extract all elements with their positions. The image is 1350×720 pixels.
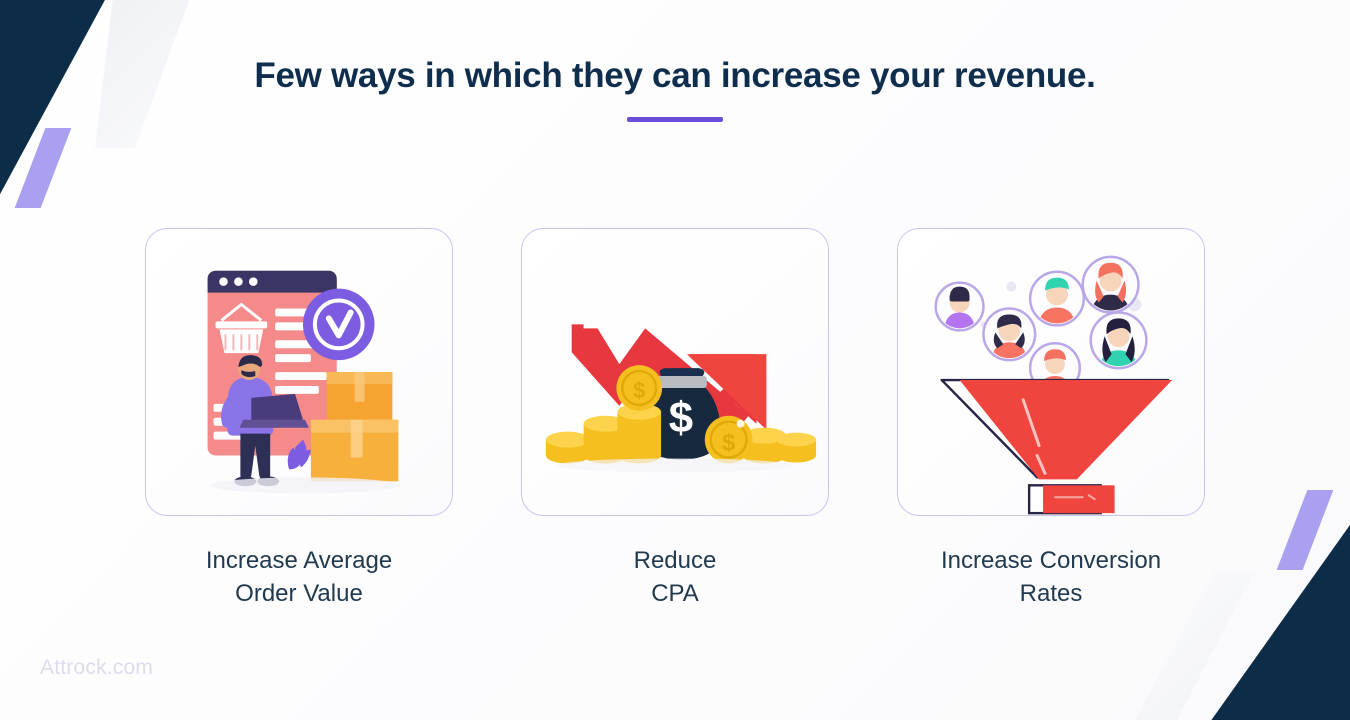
- card-reduce-cpa[interactable]: $: [521, 228, 829, 610]
- card-label: Reduce CPA: [634, 544, 717, 610]
- card-increase-conversion-rates[interactable]: Increase Conversion Rates: [897, 228, 1205, 610]
- card-frame: [897, 228, 1205, 516]
- funnel-shape: [942, 380, 1172, 479]
- card-frame: $: [521, 228, 829, 516]
- cards-row: Increase Average Order Value: [0, 228, 1350, 610]
- ecommerce-checkout-illustration: [146, 229, 452, 515]
- page-title: Few ways in which they can increase your…: [0, 56, 1350, 96]
- svg-text:$: $: [722, 430, 735, 457]
- watermark-attrock: Attrock.com: [40, 656, 153, 680]
- card-label: Increase Conversion Rates: [941, 544, 1161, 610]
- funnel-base: [1029, 485, 1114, 513]
- conversion-funnel-illustration: [898, 229, 1204, 515]
- svg-text:$: $: [633, 378, 645, 403]
- user-avatars: [936, 257, 1147, 394]
- card-label: Increase Average Order Value: [206, 544, 392, 610]
- svg-text:$: $: [669, 394, 693, 443]
- title-underline-accent: [627, 117, 723, 122]
- cost-decline-illustration: $: [522, 229, 828, 515]
- card-increase-average-order-value[interactable]: Increase Average Order Value: [145, 228, 453, 610]
- check-badge-icon: [303, 289, 375, 361]
- card-frame: [145, 228, 453, 516]
- slide-canvas: Few ways in which they can increase your…: [0, 0, 1350, 720]
